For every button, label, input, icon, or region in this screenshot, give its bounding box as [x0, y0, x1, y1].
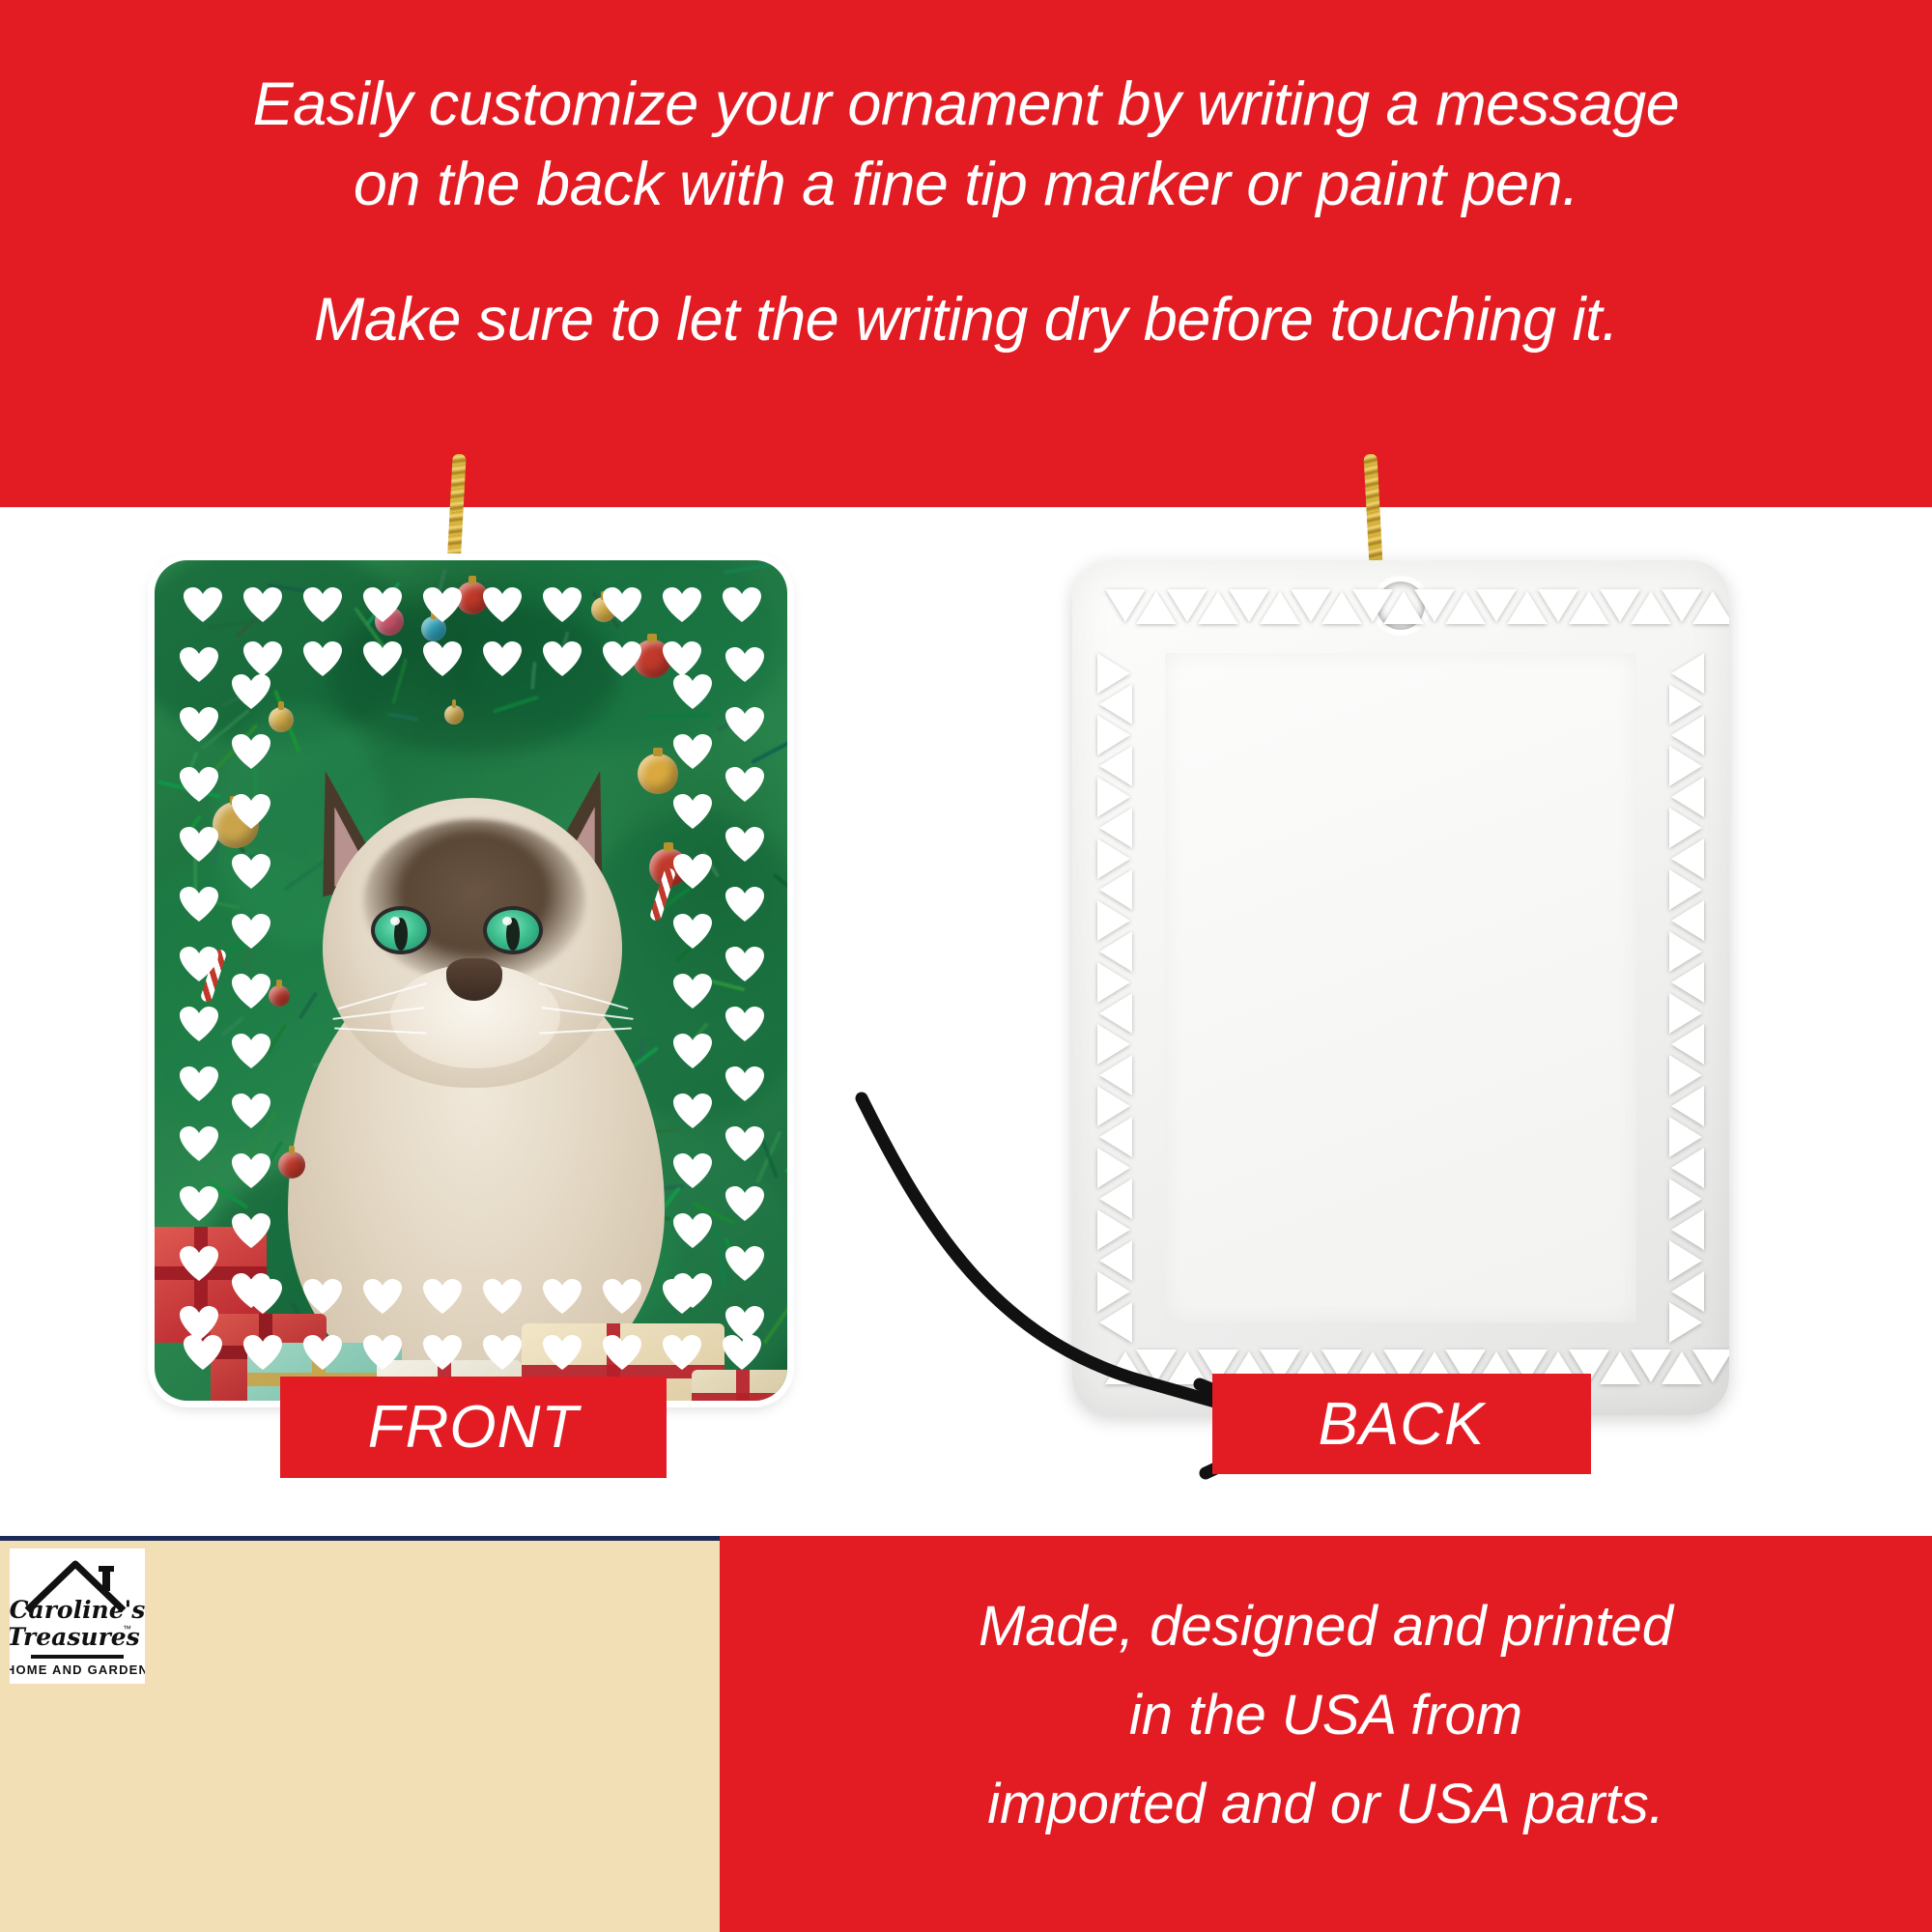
triangle-cutout [1692, 591, 1729, 624]
svg-text:Treasures: Treasures [10, 1623, 140, 1651]
claim-line-2: in the USA from [720, 1683, 1932, 1747]
triangle-cutout [1692, 1350, 1729, 1382]
brand-panel: Caroline's Treasures ™ HOME AND GARDEN [0, 1536, 720, 1932]
pine-needle [751, 735, 787, 764]
pine-needle [724, 562, 779, 575]
instruction-line-2: on the back with a fine tip marker or pa… [0, 150, 1932, 219]
christmas-bauble [638, 753, 678, 794]
instruction-banner: Easily customize your ornament by writin… [0, 0, 1932, 507]
instruction-line-3: Make sure to let the writing dry before … [0, 285, 1932, 355]
carolines-treasures-logo: Caroline's Treasures ™ HOME AND GARDEN [10, 1548, 145, 1684]
cat-eye-left [371, 906, 431, 954]
claim-line-1: Made, designed and printed [720, 1594, 1932, 1659]
svg-text:HOME AND GARDEN: HOME AND GARDEN [10, 1662, 145, 1677]
christmas-bauble [269, 707, 294, 732]
origin-claim-panel: Made, designed and printed in the USA fr… [720, 1536, 1932, 1932]
christmas-bauble [278, 1151, 305, 1179]
ornament-front [155, 560, 787, 1401]
christmas-bauble [444, 705, 464, 724]
triangle-cutout [1669, 1302, 1702, 1343]
christmas-bauble [269, 985, 290, 1007]
cat-eye-right [483, 906, 543, 954]
claim-line-3: imported and or USA parts. [720, 1772, 1932, 1836]
heart-cutout [725, 767, 764, 802]
back-label-text: BACK [1319, 1390, 1486, 1459]
gift-ribbon-horizontal [692, 1393, 787, 1401]
product-infographic: Easily customize your ornament by writin… [0, 0, 1932, 1932]
pine-needle [785, 1154, 787, 1173]
gift-box [692, 1370, 787, 1401]
instruction-line-1: Easily customize your ornament by writin… [0, 70, 1932, 139]
heart-cutout [725, 707, 764, 742]
back-label-chip: BACK [1212, 1374, 1591, 1474]
svg-text:Caroline's: Caroline's [10, 1596, 145, 1624]
footer-bar: Caroline's Treasures ™ HOME AND GARDEN [0, 1536, 1932, 1932]
svg-text:™: ™ [123, 1624, 131, 1634]
front-label-text: FRONT [368, 1393, 580, 1462]
heart-cutout [180, 1186, 218, 1221]
front-label-chip: FRONT [280, 1377, 667, 1478]
